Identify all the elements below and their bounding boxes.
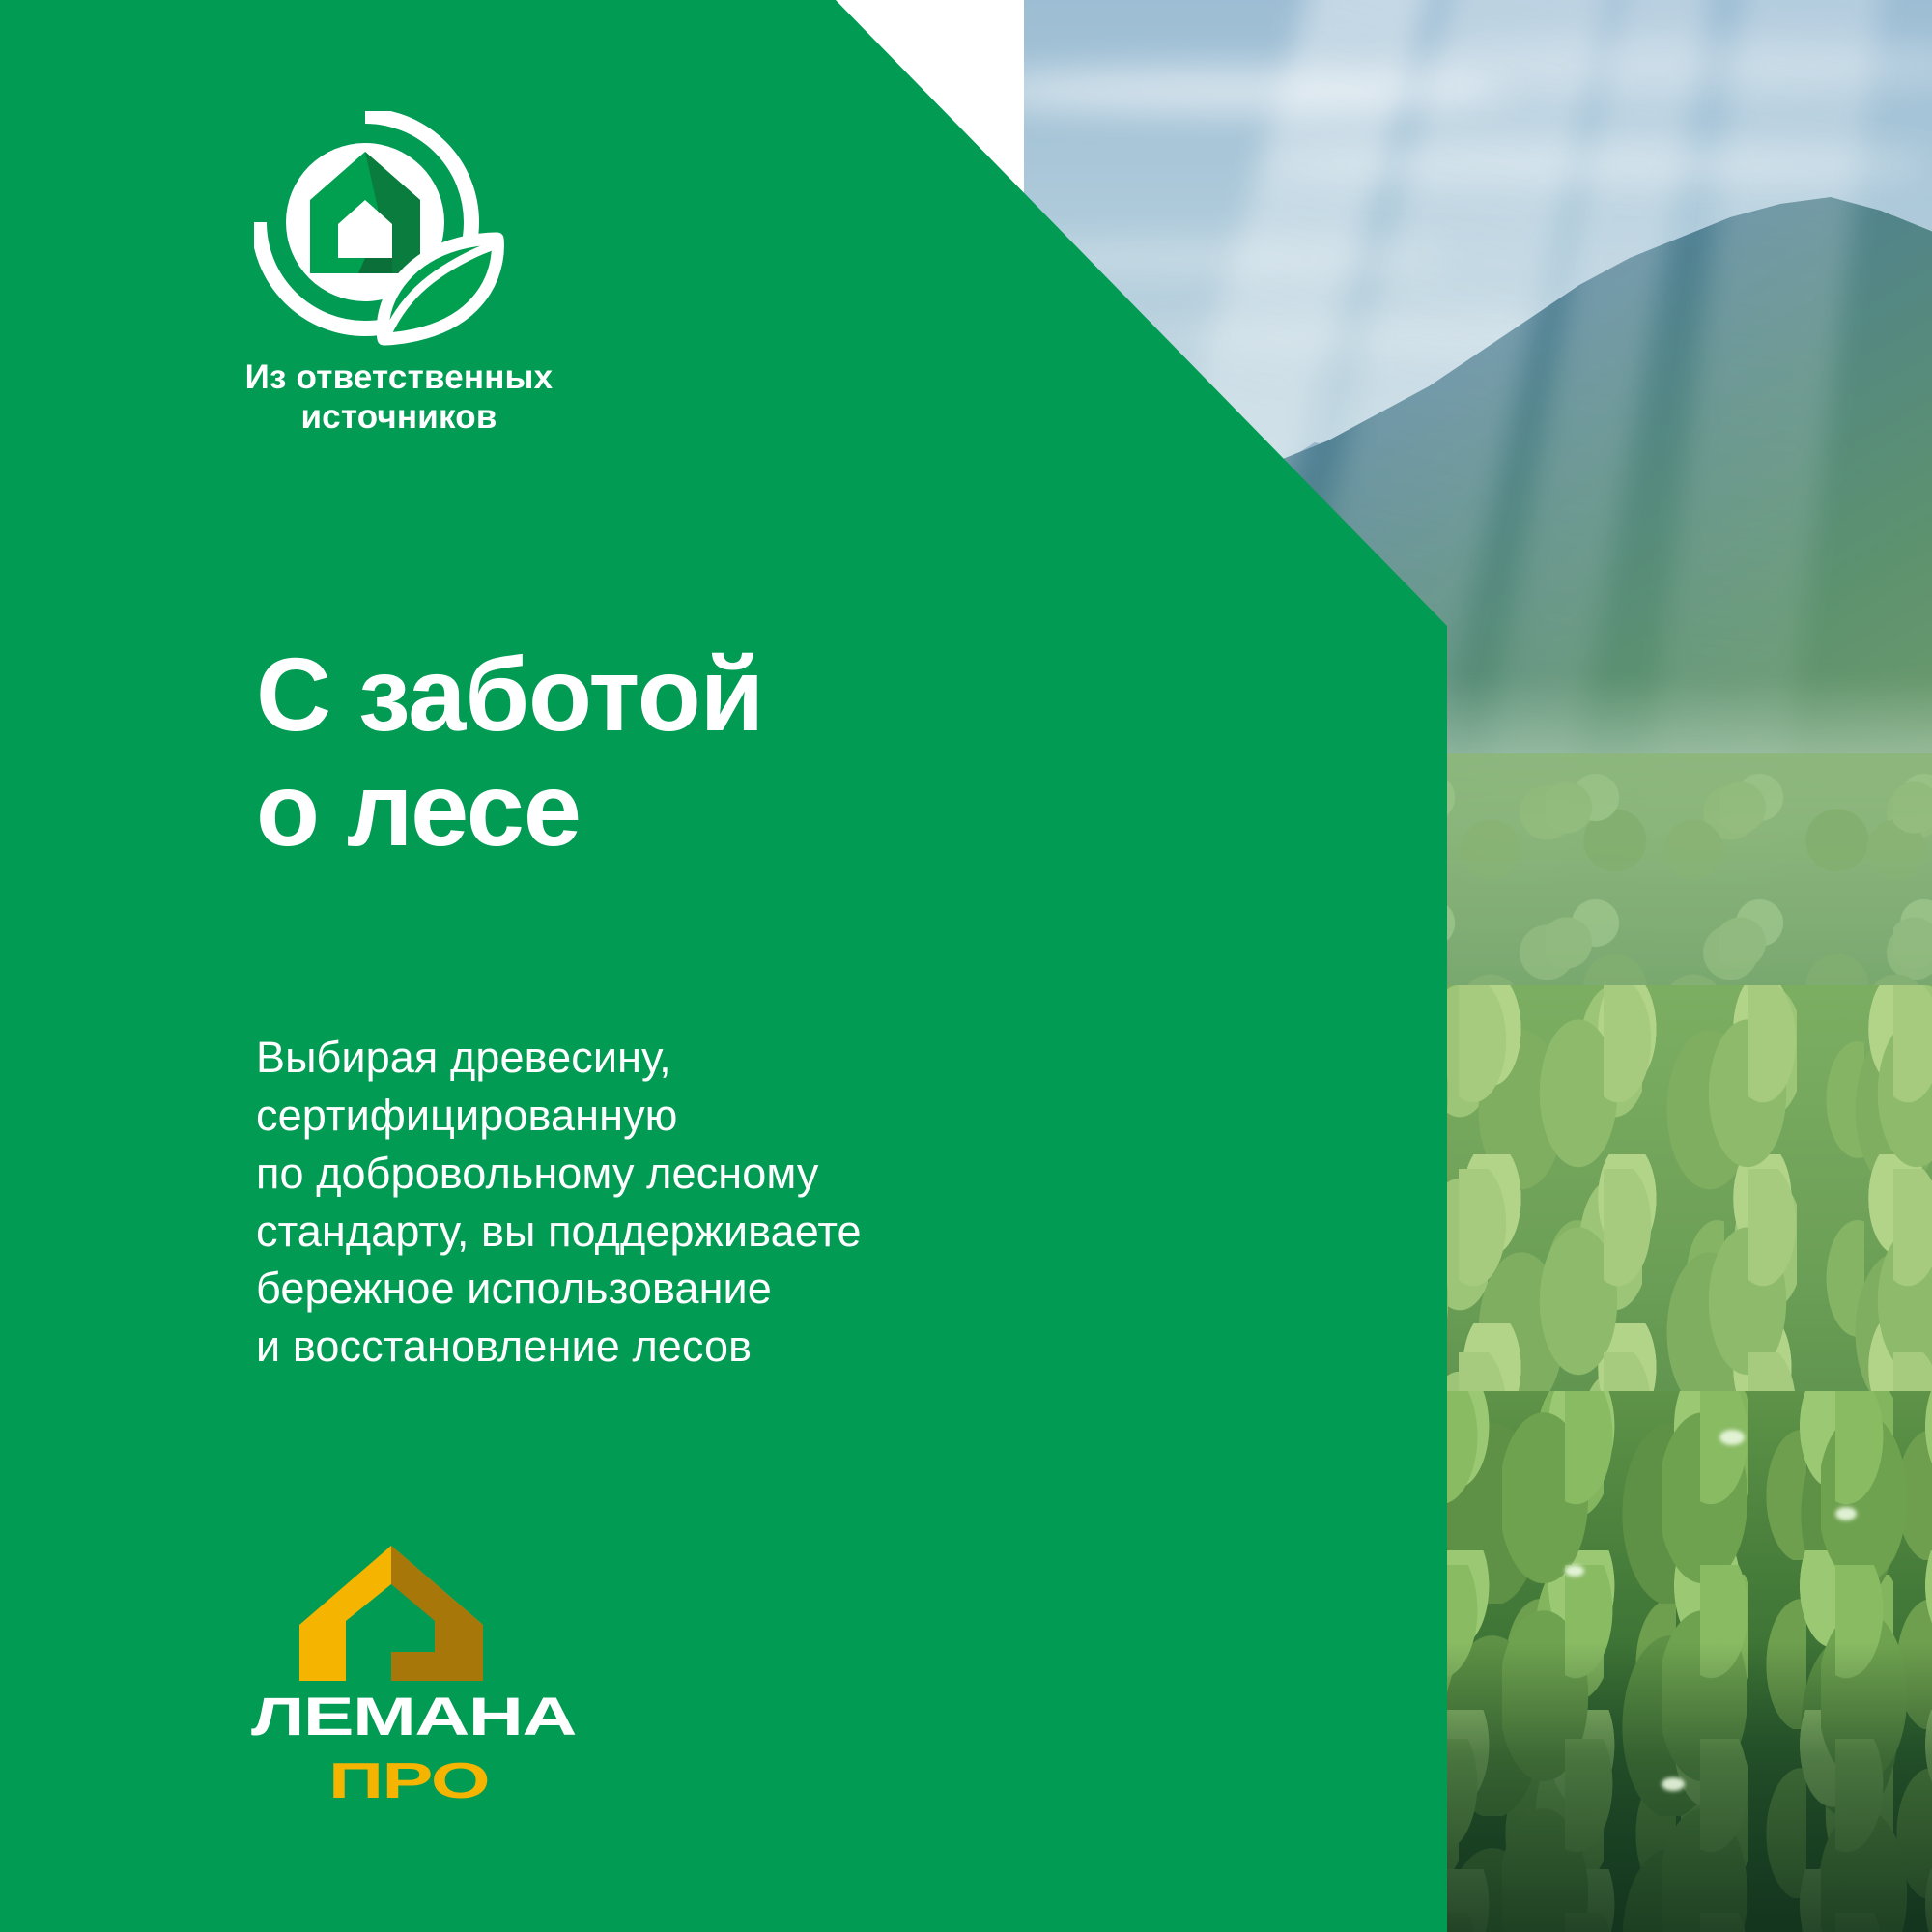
svg-text:ПРО: ПРО [328,1756,489,1806]
leaf-highlight [1835,1507,1857,1520]
svg-text:ЛЕМАНА: ЛЕМАНА [251,1690,576,1745]
body-paragraph: Выбирая древесину, сертифицированную по … [256,1029,862,1376]
pro-wordmark: ПРО [328,1756,493,1806]
leaf-highlight [1719,1430,1745,1445]
eco-caption-line-1: Из ответственных [196,357,602,397]
pro-wordmark-text: ПРО [251,1546,252,1547]
responsible-sources-caption: Из ответственных источников [196,357,602,438]
leaf-highlight [1565,1565,1584,1577]
eco-caption-line-2: источников [196,397,602,437]
lemana-wordmark-text: ЛЕМАНА [251,1546,252,1547]
page-title: С заботой о лесе [256,638,763,867]
lemana-wordmark: ЛЕМАНА [251,1690,580,1745]
house-leaf-circle-icon [254,111,515,348]
lemana-pro-logo: ЛЕМАНА ЛЕМАНА ПРО ПРО [251,1546,638,1855]
poster-canvas: Из ответственных источников С заботой о … [0,0,1932,1932]
lemana-house-icon [299,1546,483,1681]
leaf-highlight [1662,1777,1685,1791]
responsible-sources-badge: Из ответственных источников [254,111,534,401]
